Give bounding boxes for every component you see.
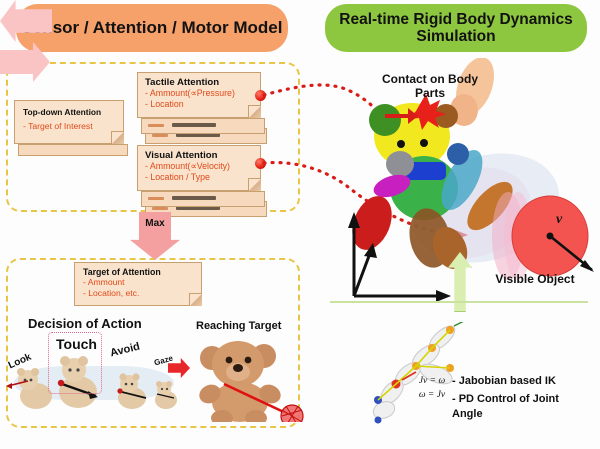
label-decision-of-action: Decision of Action <box>28 316 142 331</box>
card-target-of-attention[interactable]: Target of Attention - Ammount - Location… <box>74 262 202 306</box>
topdown-stack-card-back <box>18 144 128 156</box>
reaching-target-bear <box>196 332 306 422</box>
card-tactile-title: Tactile Attention <box>145 77 253 88</box>
label-contact-on-body-parts: Contact on Body Parts <box>370 72 490 100</box>
visual-stack-card-back2 <box>141 191 265 207</box>
header-sensor-attention-motor-model: Sensor / Attention / Motor Model <box>16 4 288 52</box>
card-target-line2: - Location, etc. <box>83 288 193 299</box>
card-tactile-attention[interactable]: Tactile Attention - Ammount(∝Pressure) -… <box>137 72 261 118</box>
page-fold-icon <box>248 105 261 118</box>
page-fold-icon <box>248 178 261 191</box>
header-right-text: Real-time Rigid Body Dynamics Simulation <box>325 11 587 46</box>
card-visual-title: Visual Attention <box>145 150 253 161</box>
action-label-touch: Touch <box>56 336 97 352</box>
card-target-line1: - Ammount <box>83 277 193 288</box>
page-fold-icon <box>111 131 124 144</box>
card-tactile-line1: - Ammount(∝Pressure) <box>145 88 253 99</box>
card-tactile-line2: - Location <box>145 99 253 110</box>
page-fold-icon <box>189 293 202 306</box>
card-visual-line1: - Ammount(∝Velocity) <box>145 161 253 172</box>
card-top-down-title: Top-down Attention <box>23 107 115 117</box>
visual-connector-dot <box>255 158 266 169</box>
header-left-text: Sensor / Attention / Motor Model <box>22 18 283 37</box>
simulation-divider <box>330 301 588 303</box>
bullet-jacobian-ik: - Jabobian based IK <box>452 374 592 389</box>
card-visual-attention[interactable]: Visual Attention - Ammount(∝Velocity) - … <box>137 145 261 191</box>
bullet-pd-control: - PD Control of Joint Angle <box>452 392 592 422</box>
card-top-down-line1: - Target of Interest <box>23 121 115 131</box>
card-top-down-attention[interactable]: Top-down Attention - Target of Interest <box>14 100 124 144</box>
header-realtime-rigid-body-dynamics-simulation: Real-time Rigid Body Dynamics Simulation <box>325 4 587 52</box>
max-label: Max <box>130 218 180 229</box>
tactile-stack-card-back2 <box>141 118 265 134</box>
label-reaching-target: Reaching Target <box>196 320 281 332</box>
tactile-connector-dot <box>255 90 266 101</box>
velocity-symbol-label: v <box>556 212 562 228</box>
control-bullets-list: - Jabobian based IK - PD Control of Join… <box>452 374 592 425</box>
card-target-title: Target of Attention <box>83 267 193 277</box>
label-visible-object: Visible Object <box>480 272 590 286</box>
card-visual-line2: - Location / Type <box>145 172 253 183</box>
